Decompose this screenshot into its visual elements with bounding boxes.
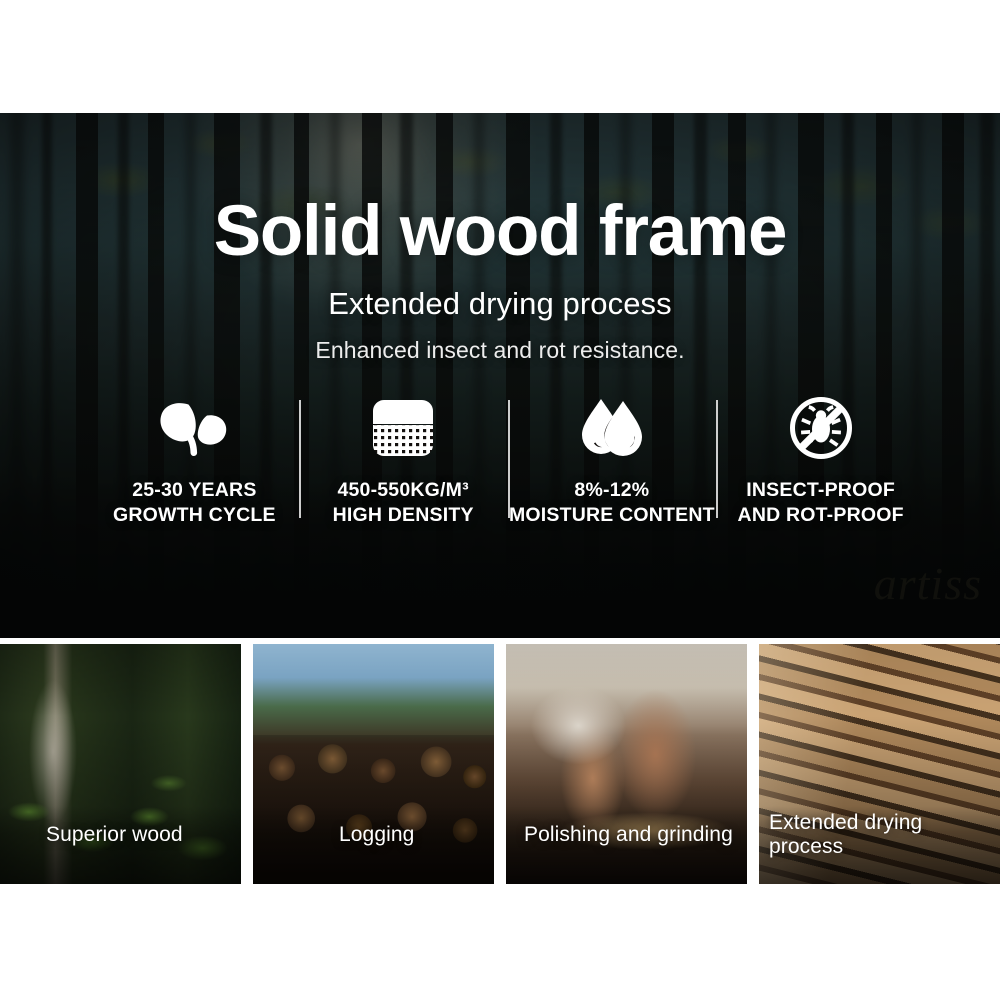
- feature-insect-rot-proof: INSECT-PROOF AND ROT-PROOF: [716, 395, 925, 528]
- feature-label-line2: HIGH DENSITY: [333, 503, 474, 528]
- feature-high-density: 450-550KG/M³ HIGH DENSITY: [299, 395, 508, 528]
- thumbnail-extended-drying-process[interactable]: Extended drying process: [759, 644, 1000, 884]
- leaf-sprout-icon: [157, 395, 231, 461]
- feature-label: 450-550KG/M³ HIGH DENSITY: [333, 478, 474, 528]
- no-insect-icon: [789, 395, 853, 461]
- feature-moisture-content: 8%-12% MOISTURE CONTENT: [508, 395, 717, 528]
- hero-section: artiss Solid wood frame Extended drying …: [0, 113, 1000, 638]
- thumbnail-logging[interactable]: Logging: [253, 644, 494, 884]
- density-block-icon: [372, 395, 434, 461]
- thumbnail-caption: Polishing and grinding: [506, 806, 747, 884]
- feature-label-line2: AND ROT-PROOF: [738, 503, 904, 528]
- thumbnail-caption: Logging: [253, 806, 494, 884]
- thumbnail-caption: Extended drying process: [759, 806, 1000, 884]
- hero-subtitle: Extended drying process: [0, 286, 1000, 322]
- feature-label-line1: 8%-12%: [574, 479, 649, 501]
- feature-label: 8%-12% MOISTURE CONTENT: [509, 478, 715, 528]
- feature-label: INSECT-PROOF AND ROT-PROOF: [738, 478, 904, 528]
- feature-label-line2: MOISTURE CONTENT: [509, 503, 715, 528]
- hero-title: Solid wood frame: [0, 196, 1000, 267]
- thumbnail-polishing-and-grinding[interactable]: Polishing and grinding: [506, 644, 747, 884]
- feature-label-line2: GROWTH CYCLE: [113, 503, 276, 528]
- hero-content: Solid wood frame Extended drying process…: [0, 113, 1000, 638]
- hero-tagline: Enhanced insect and rot resistance.: [0, 337, 1000, 364]
- feature-label-line1: 25-30 YEARS: [132, 479, 256, 501]
- feature-label-line1: INSECT-PROOF: [746, 479, 895, 501]
- feature-label: 25-30 YEARS GROWTH CYCLE: [113, 478, 276, 528]
- feature-growth-cycle: 25-30 YEARS GROWTH CYCLE: [90, 395, 299, 528]
- thumbnail-superior-wood[interactable]: Superior wood: [0, 644, 241, 884]
- feature-label-line1: 450-550KG/M³: [337, 479, 468, 501]
- feature-list: 25-30 YEARS GROWTH CYCLE: [90, 395, 925, 530]
- thumbnail-caption: Superior wood: [0, 806, 241, 884]
- product-feature-banner: artiss Solid wood frame Extended drying …: [0, 0, 1000, 1000]
- process-thumbnail-strip: Superior wood Logging Polishing and grin…: [0, 644, 1000, 884]
- water-drops-icon: [578, 395, 646, 461]
